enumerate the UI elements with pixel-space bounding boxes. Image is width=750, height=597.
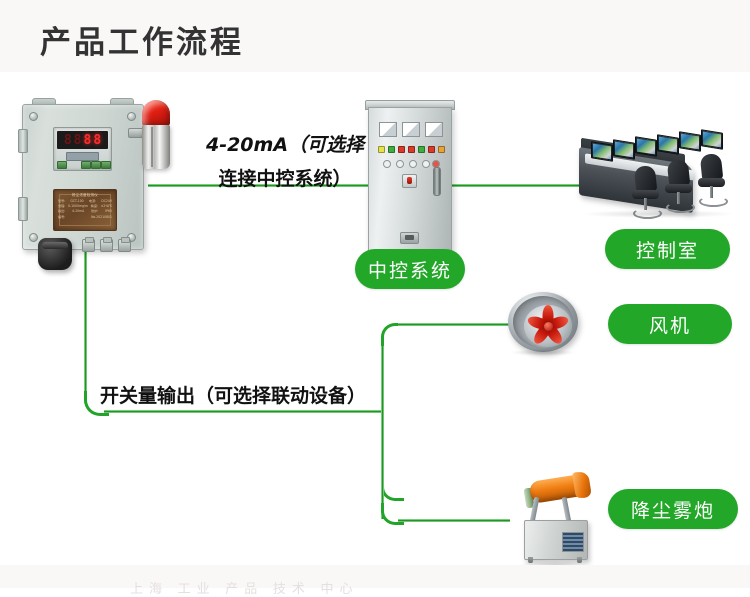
lcd-digit-3: 8 <box>84 134 92 147</box>
exhaust-fan-illustration <box>508 292 578 354</box>
cabinet-indicator-5 <box>418 146 425 153</box>
annotation-analog-line1: 4-20mA（可选择 <box>190 128 380 162</box>
label-fan-text: 风机 <box>649 311 691 338</box>
control-room-monitor-6 <box>701 129 723 149</box>
detector-button-down[interactable] <box>91 161 101 169</box>
nameplate-key: 编号: <box>58 215 65 220</box>
control-room-chair-3 <box>697 154 727 206</box>
cannon-vent-grille <box>562 532 584 552</box>
fan-ring <box>513 296 573 348</box>
fan-blade-area <box>524 305 572 347</box>
detector-button-set[interactable] <box>57 161 67 169</box>
label-fan[interactable]: 风机 <box>608 304 732 344</box>
gas-detector: 8 8 8 8 粉尘浓度检测仪 型号: <box>22 98 142 248</box>
flow-line-branch-trunk <box>381 338 384 483</box>
detector-button-shift[interactable] <box>81 161 91 169</box>
control-room-shadow <box>583 210 733 218</box>
control-room-illustration <box>575 122 747 222</box>
label-fog-cannon-text: 降尘雾炮 <box>631 496 715 523</box>
chair-backrest <box>634 165 658 193</box>
flow-line-switch-trunk-vertical <box>84 248 87 403</box>
lcd-digit-4: 8 <box>93 134 101 147</box>
flow-elbow-cannon-corner <box>381 503 404 525</box>
flow-elbow-top-to-fan <box>381 323 404 346</box>
cabinet-indicator-4 <box>408 146 415 153</box>
flow-line-to-fog-cannon <box>398 519 510 522</box>
nameplate-rows: 型号: GCT-100 电源: DC24V 量程: 0-1000mg/m 精度:… <box>58 199 112 220</box>
detector-hinge-top <box>18 129 28 153</box>
nameplate-val: No.20210801 <box>91 215 112 220</box>
control-room-monitor-4 <box>657 134 679 154</box>
detector-nameplate: 粉尘浓度检测仪 型号: GCT-100 电源: DC24V 量程: 0-1000… <box>53 189 117 231</box>
lcd-digit-1: 8 <box>64 134 72 147</box>
detector-sensor-probe <box>38 238 72 270</box>
detector-hinge-bottom <box>18 197 28 221</box>
cabinet-button-1[interactable] <box>383 160 391 168</box>
flow-line-to-fan <box>398 323 510 326</box>
cabinet-indicator-7 <box>438 146 445 153</box>
control-room-monitor-5 <box>679 131 701 151</box>
cabinet-button-2[interactable] <box>396 160 404 168</box>
label-central-control-system[interactable]: 中控系统 <box>355 249 465 289</box>
nameplate-title: 粉尘浓度检测仪 <box>54 192 116 197</box>
cable-gland-2 <box>100 239 113 252</box>
detector-display-panel: 8 8 8 8 <box>53 127 112 171</box>
control-room-chair-2 <box>664 160 694 212</box>
detector-screw-tr <box>127 112 136 121</box>
central-control-cabinet <box>368 100 450 252</box>
nameplate-val: 4-20mA <box>72 209 84 214</box>
cabinet-button-3[interactable] <box>409 160 417 168</box>
label-central-control-text: 中控系统 <box>368 256 452 283</box>
cabinet-door <box>368 107 452 254</box>
alarm-beacon <box>138 100 174 174</box>
label-control-room[interactable]: 控制室 <box>605 229 730 269</box>
annotation-switch-output: 开关量输出（可选择联动设备） <box>100 381 366 408</box>
cabinet-meter-window-3 <box>425 122 443 137</box>
beacon-red-dome <box>142 100 170 126</box>
chair-base <box>699 196 728 207</box>
label-control-room-text: 控制室 <box>636 236 699 263</box>
fog-cannon-illustration <box>508 470 600 565</box>
annotation-analog-line2: 连接中控系统） <box>190 162 380 196</box>
control-room-monitor-2 <box>613 139 635 159</box>
cabinet-button-4[interactable] <box>422 160 430 168</box>
chair-backrest <box>667 159 691 187</box>
page-title: 产品工作流程 <box>40 17 244 62</box>
cabinet-indicator-3 <box>398 146 405 153</box>
chair-backrest <box>700 153 724 181</box>
beacon-metal-body <box>142 125 170 169</box>
detector-enclosure: 8 8 8 8 粉尘浓度检测仪 型号: <box>22 104 144 250</box>
detector-secondary-display <box>66 152 99 161</box>
detector-screw-bl <box>29 233 38 242</box>
cable-gland-3 <box>118 239 131 252</box>
cabinet-lock-plate[interactable] <box>400 232 419 244</box>
detector-cable-glands <box>82 239 142 251</box>
cannon-nozzle-mouth <box>572 472 592 498</box>
detector-lcd-readout: 8 8 8 8 <box>57 131 108 149</box>
cabinet-indicator-6 <box>428 146 435 153</box>
control-room-monitor-1 <box>591 141 613 161</box>
annotation-analog-output: 4-20mA（可选择 连接中控系统） <box>190 128 380 196</box>
cabinet-meter-window-1 <box>379 122 397 137</box>
label-fog-cannon[interactable]: 降尘雾炮 <box>608 489 738 529</box>
flow-line-switch-horizontal <box>104 410 384 413</box>
footer-band <box>0 565 750 588</box>
fan-hub <box>544 322 553 331</box>
fan-shadow <box>510 349 576 356</box>
flow-elbow-bottom-to-cannon <box>381 478 404 501</box>
control-room-monitor-3 <box>635 136 657 156</box>
workflow-diagram: 产品工作流程 4-20mA（可选择 连接中控系统） 开关量输出（可选择联动设备） <box>0 0 750 588</box>
fan-housing <box>508 292 578 352</box>
detector-screw-tl <box>29 112 38 121</box>
cabinet-indicator-2 <box>388 146 395 153</box>
cabinet-emergency-stop[interactable] <box>402 174 417 188</box>
detector-button-up[interactable] <box>101 161 111 169</box>
nameplate-row: 编号: No.20210801 <box>58 215 112 220</box>
flow-line-cabinet-to-control-room <box>448 184 580 187</box>
cabinet-door-handle[interactable] <box>433 167 441 196</box>
detector-button-row <box>57 161 108 168</box>
lcd-digit-2: 8 <box>74 134 82 147</box>
cable-gland-1 <box>82 239 95 252</box>
cabinet-indicator-1 <box>378 146 385 153</box>
cabinet-meter-window-2 <box>402 122 420 137</box>
